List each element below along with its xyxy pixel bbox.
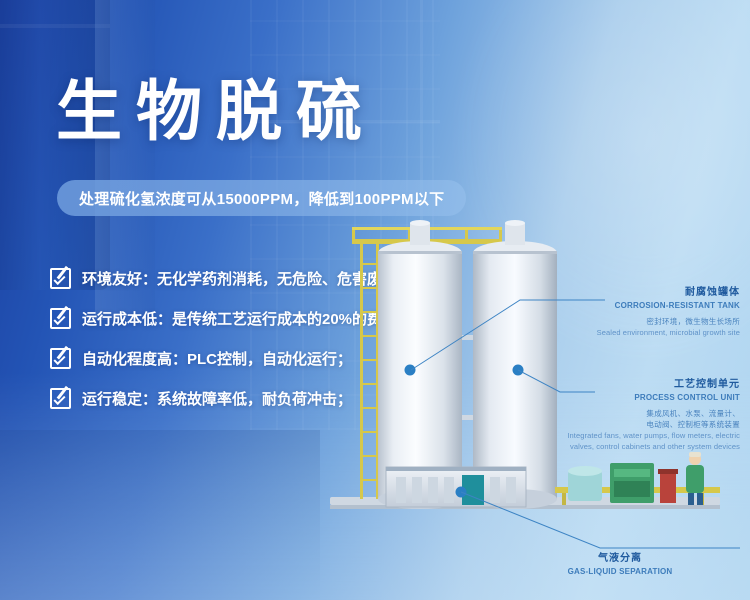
callout-title-cn: 工艺控制单元 (540, 378, 740, 392)
callout-process-control-unit: 工艺控制单元 PROCESS CONTROL UNIT 集成风机、水泵、流量计、… (540, 378, 740, 453)
callout-title-en: CORROSION-RESISTANT TANK (580, 300, 740, 311)
leader-line-tank (411, 300, 605, 370)
callout-desc-en-2: valves, control cabinets and other syste… (540, 441, 740, 452)
callout-desc-cn-2: 电动阀、控制柜等系统装置 (540, 419, 740, 430)
poster-root: 生物脱硫 处理硫化氢浓度可从15000PPM，降低到100PPM以下 环境友好：… (0, 0, 750, 600)
callout-desc-en: Sealed environment, microbial growth sit… (580, 327, 740, 338)
callout-title-en: PROCESS CONTROL UNIT (540, 392, 740, 403)
leader-line-separation (461, 492, 740, 548)
callout-desc-cn: 集成风机、水泵、流量计、 (540, 408, 740, 419)
callout-desc-en: Integrated fans, water pumps, flow meter… (540, 430, 740, 441)
callout-title-cn: 耐腐蚀罐体 (580, 286, 740, 300)
callout-title-cn: 气液分离 (540, 552, 700, 566)
callout-title-en: GAS-LIQUID SEPARATION (540, 566, 700, 577)
callout-gas-liquid-separation: 气液分离 GAS-LIQUID SEPARATION (540, 552, 700, 577)
callout-corrosion-resistant-tank: 耐腐蚀罐体 CORROSION-RESISTANT TANK 密封环境，微生物生… (580, 286, 740, 338)
callout-desc-cn: 密封环境，微生物生长场所 (580, 316, 740, 327)
